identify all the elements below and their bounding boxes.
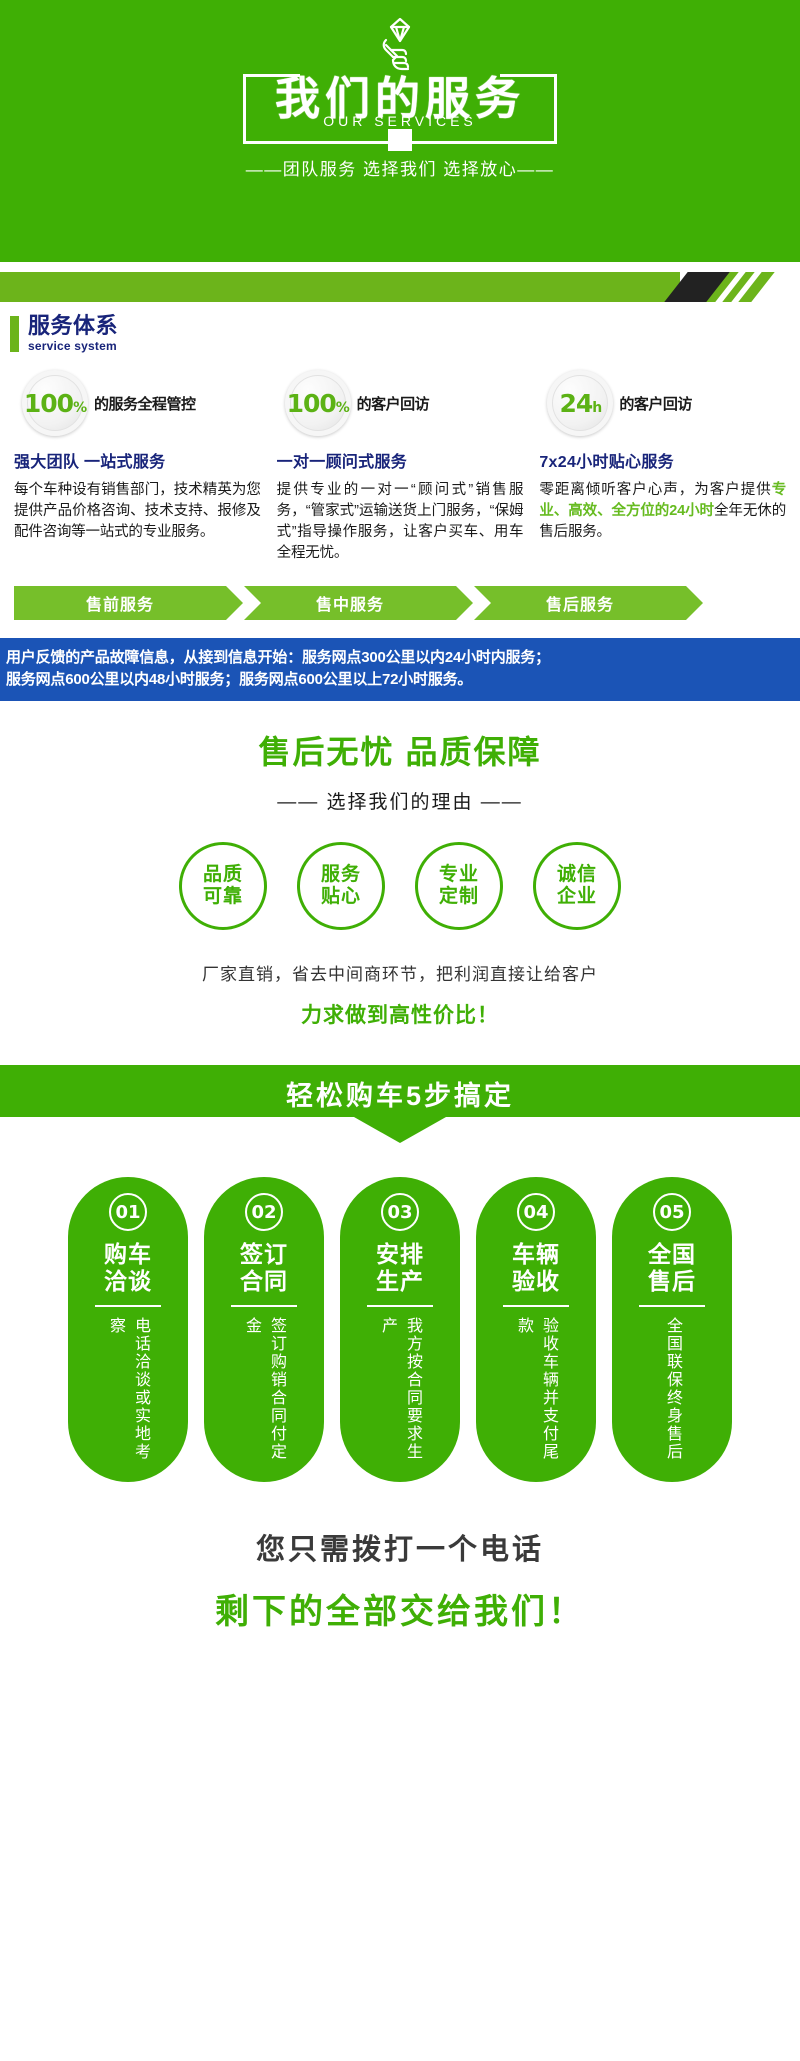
section-guarantee: 售后无忧 品质保障 —— 选择我们的理由 —— 品质 可靠 服务 贴心 专业 定… (0, 701, 800, 1029)
badge-circle-icon-2: 100% (285, 370, 351, 436)
step-pill-4[interactable]: 04 车辆 验收 验收车辆并支付尾款 (476, 1177, 596, 1482)
step-pill-3[interactable]: 03 安排 生产 我方按合同要求生产 (340, 1177, 460, 1482)
step-number-2: 02 (245, 1193, 283, 1231)
badge-suffix-3: h (592, 400, 601, 416)
step-title-3: 安排 生产 (376, 1241, 424, 1295)
step-title-2-line1: 签订 (240, 1241, 288, 1268)
feature-column-3: 7x24小时贴心服务 零距离倾听客户心声，为客户提供专业、高效、全方位的24小时… (531, 448, 794, 564)
footer-cta: 您只需拨打一个电话 剩下的全部交给我们！ (0, 1482, 800, 1667)
banner-line-1: 用户反馈的产品故障信息，从接到信息开始：服务网点300公里以内24小时内服务； (6, 647, 790, 669)
feature-title-3: 7x24小时贴心服务 (539, 448, 786, 472)
guarantee-circle-4: 诚信 企业 (533, 842, 621, 930)
badge-label-1: 的服务全程管控 (94, 393, 196, 414)
step-number-4: 04 (517, 1193, 555, 1231)
guarantee-circle-row: 品质 可靠 服务 贴心 专业 定制 诚信 企业 (0, 842, 800, 930)
step-title-3-line1: 安排 (376, 1241, 424, 1268)
badge-suffix-1: % (73, 400, 86, 416)
badge-item-2: 100% 的客户回访 (269, 370, 532, 436)
guarantee-circle-3-line2: 定制 (439, 886, 479, 908)
step-desc-4: 验收车辆并支付尾款 (511, 1317, 561, 1467)
guarantee-circle-2-line1: 服务 (321, 864, 361, 886)
feature-column-2: 一对一顾问式服务 提供专业的一对一“顾问式”销售服务，“管家式”运输送货上门服务… (269, 448, 532, 564)
guarantee-circle-3-line1: 专业 (439, 864, 479, 886)
guarantee-circle-4-line2: 企业 (557, 886, 597, 908)
step-desc-5: 全国联保终身售后 (660, 1317, 685, 1467)
step-title-1-line1: 购车 (104, 1241, 152, 1268)
step-title-4-line1: 车辆 (512, 1241, 560, 1268)
badge-number-2: 100 (287, 389, 336, 418)
badge-number-1: 100 (24, 389, 73, 418)
step-pill-5[interactable]: 05 全国 售后 全国联保终身售后 (612, 1177, 732, 1482)
guarantee-title: 售后无忧 品质保障 (0, 727, 800, 773)
frame-notch-bottom (388, 129, 412, 151)
step-title-3-line2: 生产 (376, 1268, 424, 1295)
step-divider-2 (231, 1305, 297, 1307)
guarantee-circle-3: 专业 定制 (415, 842, 503, 930)
badge-circle-icon-3: 24h (547, 370, 613, 436)
feature-body-2: 提供专业的一对一“顾问式”销售服务，“管家式”运输送货上门服务，“保姆式”指导操… (277, 480, 524, 564)
step-divider-1 (95, 1305, 161, 1307)
guarantee-circle-2: 服务 贴心 (297, 842, 385, 930)
step-number-1: 01 (109, 1193, 147, 1231)
banner-line-2: 服务网点600公里以内48小时服务；服务网点600公里以上72小时服务。 (6, 669, 790, 691)
hero-banner: 我们的服务 OUR SERVICES ——团队服务 选择我们 选择放心—— (0, 0, 800, 262)
cta-line-2: 剩下的全部交给我们！ (0, 1584, 800, 1633)
feature-title-1: 强大团队 一站式服务 (14, 448, 261, 472)
feature-body-1: 每个车种设有销售部门，技术精英为您提供产品价格咨询、技术支持、报修及配件咨询等一… (14, 480, 261, 543)
service-response-banner: 用户反馈的产品故障信息，从接到信息开始：服务网点300公里以内24小时内服务； … (0, 638, 800, 701)
badge-label-2: 的客户回访 (357, 393, 430, 414)
step-title-4: 车辆 验收 (512, 1241, 560, 1295)
step-number-3: 03 (381, 1193, 419, 1231)
guarantee-note-2: 力求做到高性价比！ (0, 999, 800, 1029)
step-divider-5 (639, 1305, 705, 1307)
guarantee-circle-1-line1: 品质 (203, 864, 243, 886)
hero-tagline: ——团队服务 选择我们 选择放心—— (0, 155, 800, 180)
steps-heading: 轻松购车5步搞定 (0, 1074, 800, 1113)
step-title-2-line2: 合同 (240, 1268, 288, 1295)
arrow-tab-insale[interactable]: 售中服务 (244, 586, 456, 620)
step-title-5-line1: 全国 (648, 1241, 696, 1268)
feature-body-3: 零距离倾听客户心声，为客户提供专业、高效、全方位的24小时全年无休的售后服务。 (539, 480, 786, 543)
arrow-tab-aftersale[interactable]: 售后服务 (474, 586, 686, 620)
step-desc-1: 电话洽谈或实地考察 (103, 1317, 153, 1467)
step-title-5-line2: 售后 (648, 1268, 696, 1295)
hero-subtitle-en: OUR SERVICES (0, 113, 800, 129)
step-desc-3: 我方按合同要求生产 (375, 1317, 425, 1467)
feature-body-3-highlight-2: 24小时 (669, 503, 714, 519)
guarantee-circle-1-line2: 可靠 (203, 886, 243, 908)
arrow-tab-row: 售前服务 售中服务 售后服务 (0, 586, 800, 620)
badge-number-3: 24 (559, 389, 592, 418)
feature-row: 强大团队 一站式服务 每个车种设有销售部门，技术精英为您提供产品价格咨询、技术支… (0, 448, 800, 564)
step-title-4-line2: 验收 (512, 1268, 560, 1295)
cta-line-1: 您只需拨打一个电话 (0, 1526, 800, 1568)
badge-circle-icon-1: 100% (22, 370, 88, 436)
heading-accent-bar (10, 316, 19, 352)
steps-chevron-banner: 轻松购车5步搞定 (0, 1065, 800, 1145)
badge-label-3: 的客户回访 (619, 393, 692, 414)
badge-item-3: 24h 的客户回访 (531, 370, 794, 436)
step-title-5: 全国 售后 (648, 1241, 696, 1295)
step-title-1: 购车 洽谈 (104, 1241, 152, 1295)
step-pill-2[interactable]: 02 签订 合同 签订购销合同付定金 (204, 1177, 324, 1482)
guarantee-note-1: 厂家直销，省去中间商环节，把利润直接让给客户 (0, 960, 800, 985)
badge-row: 100% 的服务全程管控 100% 的客户回访 24h 的客户回访 (0, 370, 800, 436)
step-desc-2: 签订购销合同付定金 (239, 1317, 289, 1467)
feature-body-3-pre: 零距离倾听客户心声，为客户提供 (539, 482, 771, 498)
step-divider-3 (367, 1305, 433, 1307)
feature-column-1: 强大团队 一站式服务 每个车种设有销售部门，技术精英为您提供产品价格咨询、技术支… (6, 448, 269, 564)
heading-title-cn: 服务体系 (28, 314, 118, 338)
stripe-divider (0, 272, 800, 302)
heading-title-en: service system (28, 338, 118, 354)
feature-title-2: 一对一顾问式服务 (277, 448, 524, 472)
guarantee-circle-2-line2: 贴心 (321, 886, 361, 908)
step-number-5: 05 (653, 1193, 691, 1231)
step-pill-1[interactable]: 01 购车 洽谈 电话洽谈或实地考察 (68, 1177, 188, 1482)
guarantee-circle-1: 品质 可靠 (179, 842, 267, 930)
guarantee-circle-4-line1: 诚信 (557, 864, 597, 886)
badge-item-1: 100% 的服务全程管控 (6, 370, 269, 436)
section-heading-service-system: 服务体系 service system (0, 302, 800, 354)
step-title-1-line2: 洽谈 (104, 1268, 152, 1295)
badge-suffix-2: % (336, 400, 349, 416)
arrow-tab-presale[interactable]: 售前服务 (14, 586, 226, 620)
step-divider-4 (503, 1305, 569, 1307)
step-pill-row: 01 购车 洽谈 电话洽谈或实地考察 02 签订 合同 签订购销合同付定金 03… (0, 1177, 800, 1482)
guarantee-subtitle: —— 选择我们的理由 —— (0, 787, 800, 814)
chevron-point (354, 1117, 446, 1143)
step-title-2: 签订 合同 (240, 1241, 288, 1295)
stripe-main-bar (0, 272, 680, 302)
